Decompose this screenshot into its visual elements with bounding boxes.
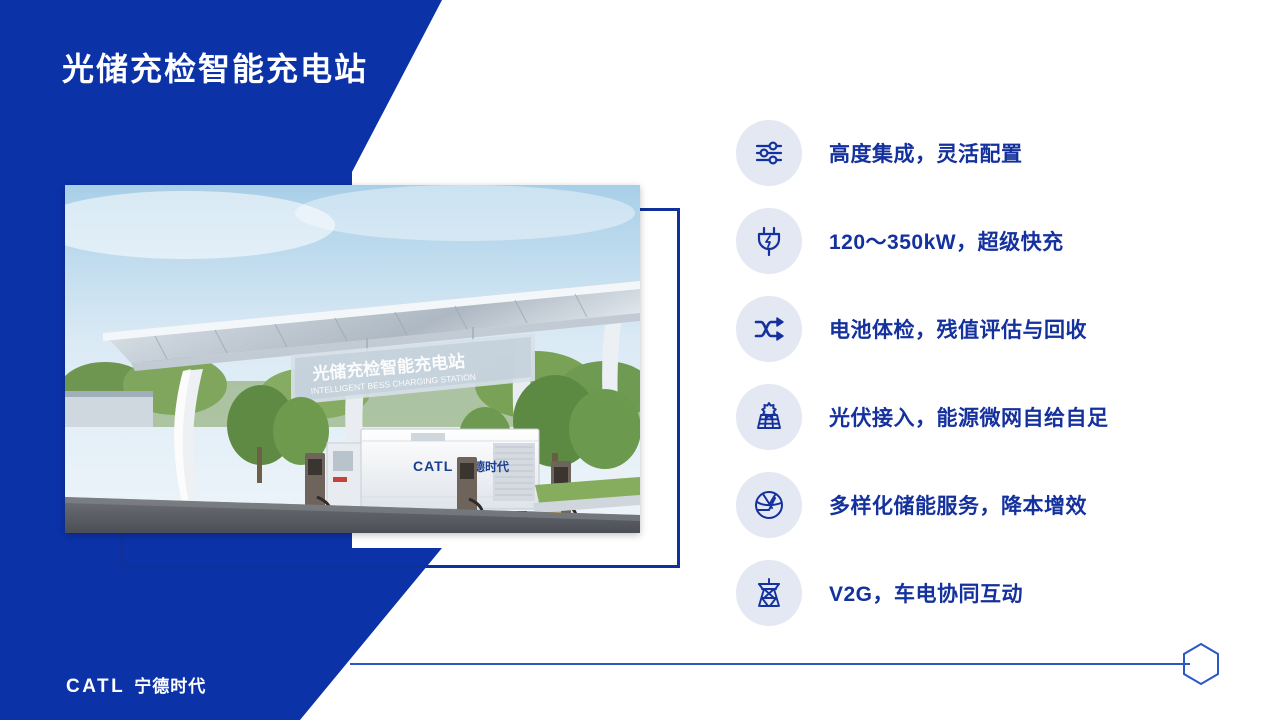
energy-globe-icon — [736, 472, 802, 538]
feature-item-battery-inspection[interactable]: 电池体检，残值评估与回收 — [736, 294, 1216, 363]
footer-divider — [350, 663, 1190, 665]
feature-item-integration[interactable]: 高度集成，灵活配置 — [736, 118, 1216, 187]
station-photo: 光储充检智能充电站 INTELLIGENT BESS CHARGING STAT… — [65, 185, 640, 533]
feature-label: 多样化储能服务，降本增效 — [829, 490, 1087, 520]
catl-logo-text: CATL — [66, 676, 125, 698]
feature-item-fast-charging[interactable]: 120～350kW，超级快充 — [736, 206, 1216, 275]
feature-item-pv-access[interactable]: 光伏接入，能源微网自给自足 — [736, 382, 1216, 451]
hexagon-icon — [1178, 641, 1224, 687]
catl-logo: CATL 宁德时代 — [66, 672, 206, 698]
feature-label: V2G，车电协同互动 — [829, 578, 1023, 608]
feature-label: 120～350kW，超级快充 — [829, 226, 1064, 256]
page-title: 光储充检智能充电站 — [62, 44, 368, 90]
sliders-icon — [736, 120, 802, 186]
feature-label: 高度集成，灵活配置 — [829, 138, 1023, 168]
catl-logo-cn: 宁德时代 — [134, 672, 206, 697]
solar-panel-icon — [736, 384, 802, 450]
svg-text:CATL: CATL — [413, 458, 453, 474]
power-tower-icon — [736, 560, 802, 626]
shuffle-icon — [736, 296, 802, 362]
feature-item-storage-services[interactable]: 多样化储能服务，降本增效 — [736, 470, 1216, 539]
station-photo-illustration: 光储充检智能充电站 INTELLIGENT BESS CHARGING STAT… — [65, 185, 640, 533]
slide-root: 光储充检智能充电站 — [0, 0, 1280, 720]
feature-label: 光伏接入，能源微网自给自足 — [829, 402, 1109, 432]
feature-item-v2g[interactable]: V2G，车电协同互动 — [736, 558, 1216, 627]
feature-label: 电池体检，残值评估与回收 — [829, 314, 1087, 344]
feature-list: 高度集成，灵活配置 120～350kW，超级快充 — [736, 118, 1216, 627]
power-plug-icon — [736, 208, 802, 274]
